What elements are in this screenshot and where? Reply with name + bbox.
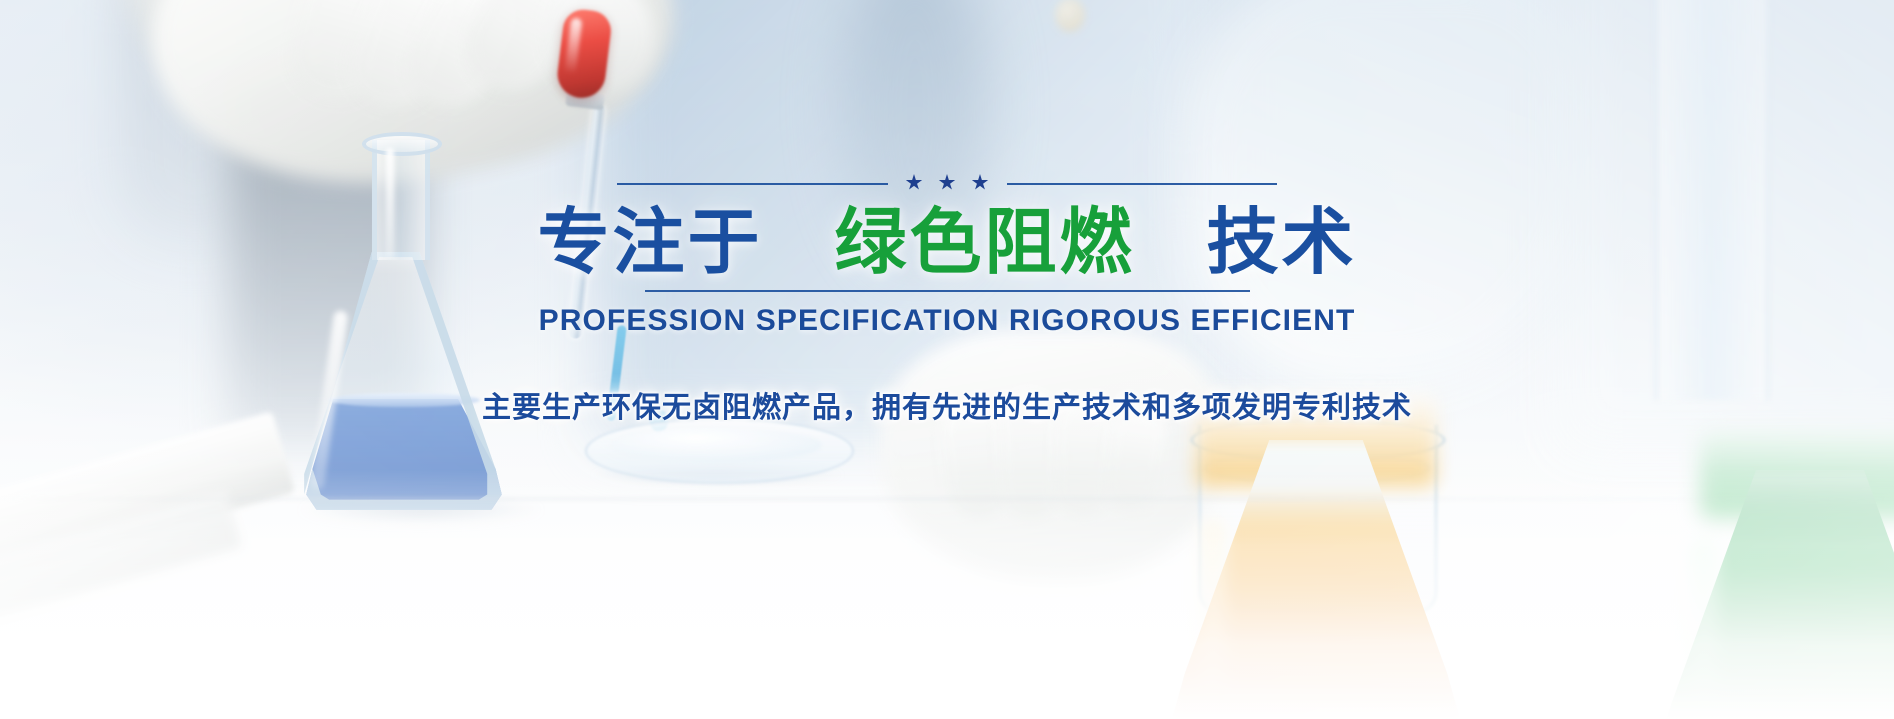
star-icon — [972, 174, 989, 191]
headline-part-3: 技术 — [1207, 203, 1357, 283]
page-title: 专注于 绿色阻燃 技术 — [537, 203, 1356, 284]
flask-meniscus — [328, 393, 480, 407]
flask-neck-highlight — [386, 148, 394, 258]
rule-segment-right — [1007, 183, 1278, 185]
rule-segment-left — [617, 183, 888, 185]
star-icon — [906, 174, 923, 191]
laboratory-background-photo — [0, 0, 1894, 719]
banner-description: 主要生产环保无卤阻燃产品，拥有先进的生产技术和多项发明专利技术 — [482, 384, 1412, 426]
hero-banner: 专注于 绿色阻燃 技术 PROFESSION SPECIFICATION RIG… — [0, 0, 1894, 719]
subtitle-divider — [645, 290, 1250, 292]
decorative-star-rule — [617, 176, 1277, 191]
star-icon — [939, 174, 956, 191]
flask-lip — [362, 132, 442, 156]
headline-part-2: 绿色阻燃 — [834, 203, 1134, 283]
glass-cylinder-icon — [1655, 0, 1769, 400]
headline-part-1: 专注于 — [537, 203, 762, 283]
english-subtitle: PROFESSION SPECIFICATION RIGOROUS EFFICI… — [539, 304, 1356, 338]
table-surface — [0, 470, 1894, 719]
petri-dish-inner — [612, 428, 822, 462]
flask-neck — [372, 140, 430, 260]
erlenmeyer-flask-icon — [300, 140, 540, 510]
star-group — [888, 174, 1007, 191]
